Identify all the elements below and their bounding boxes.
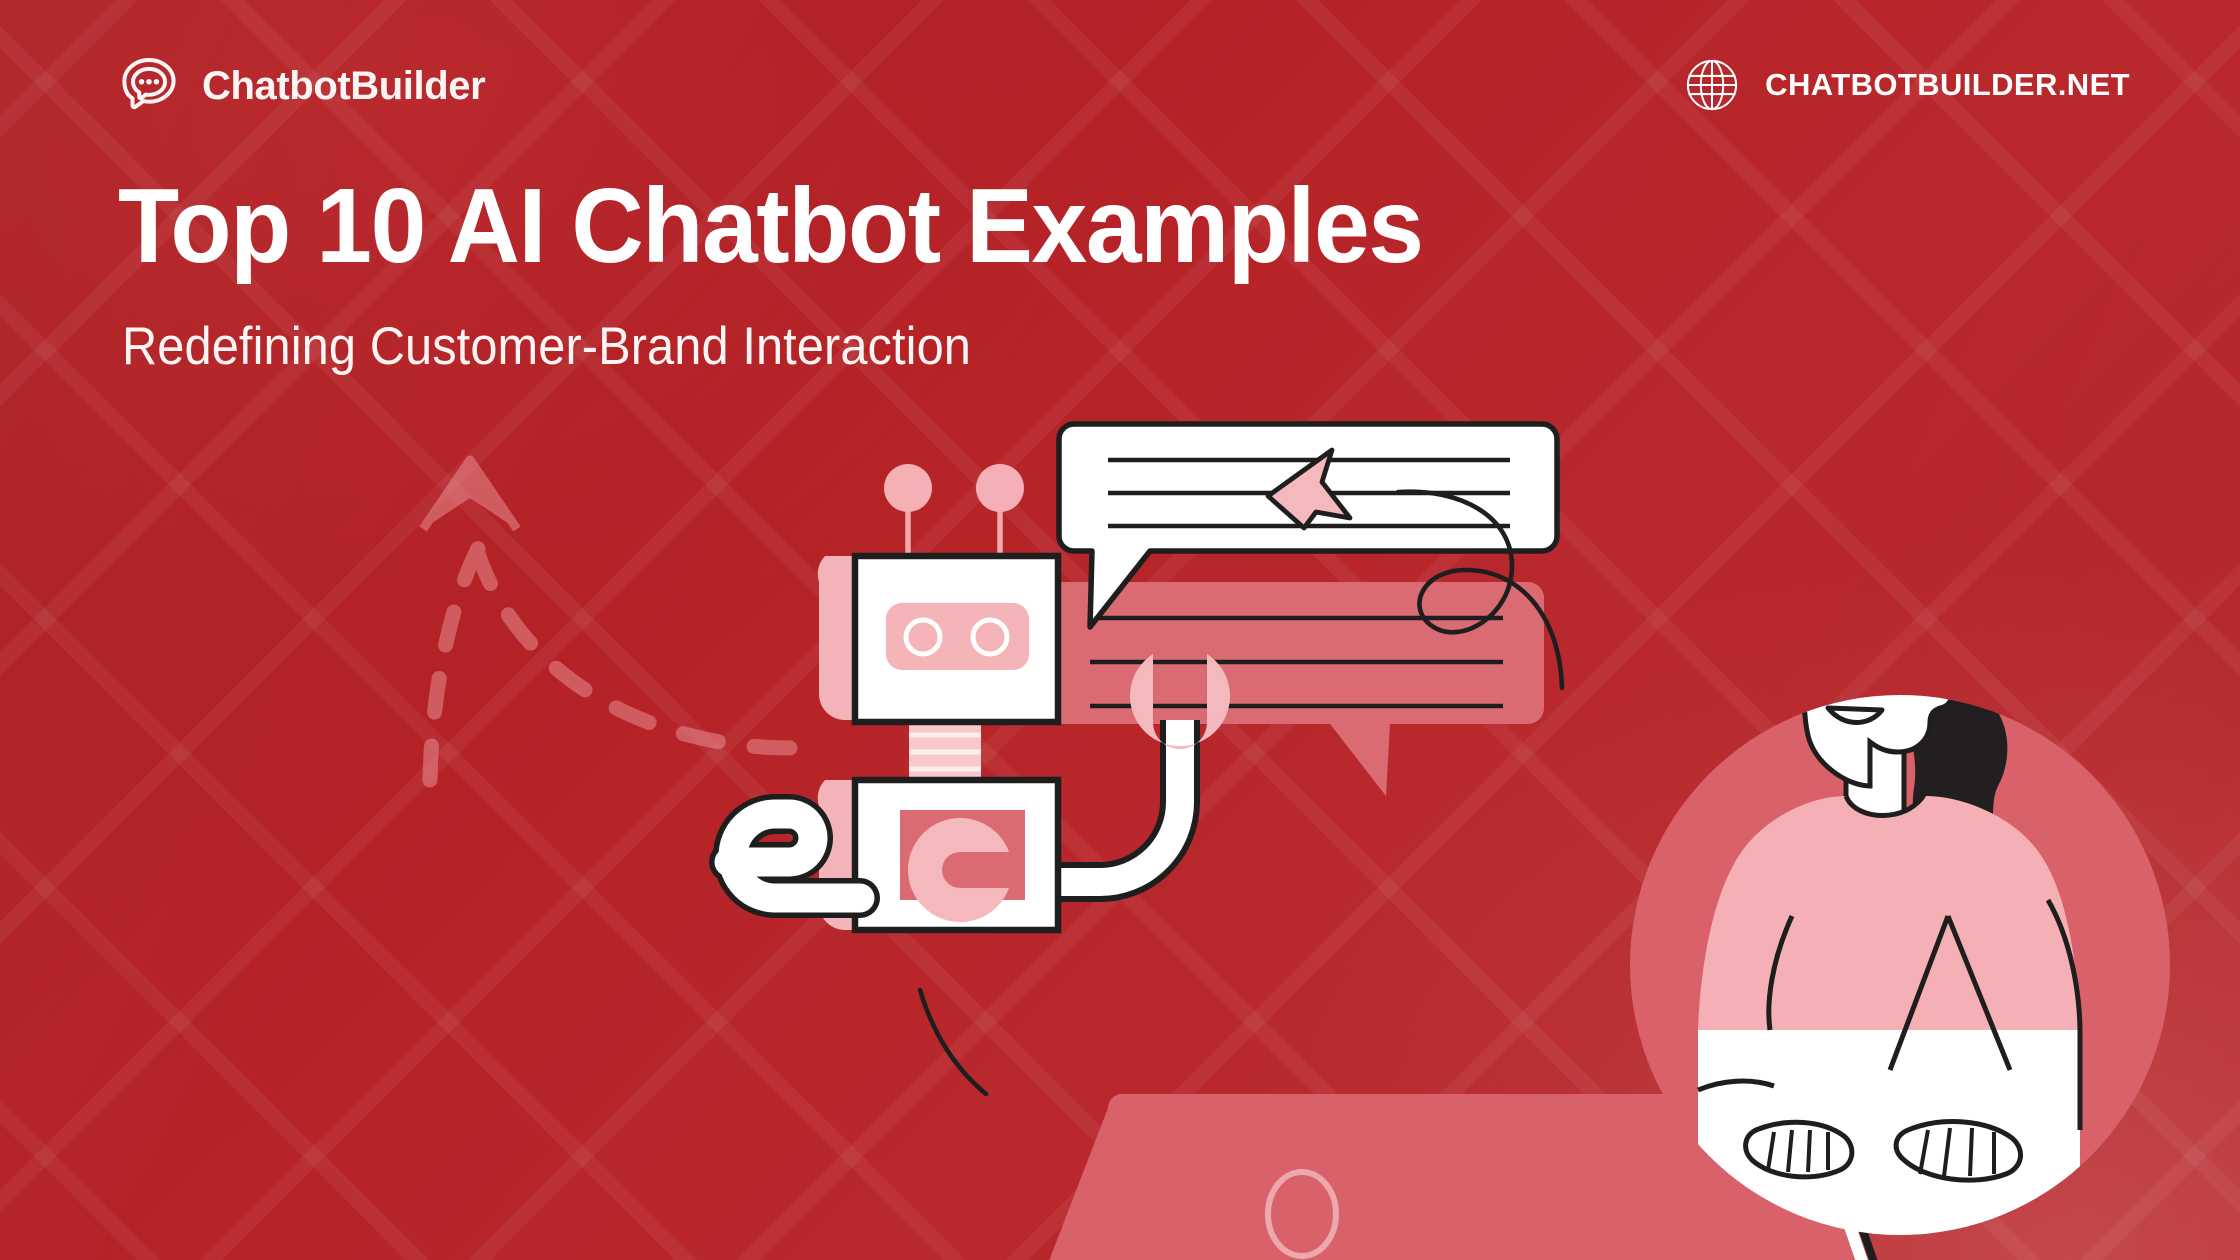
page-title: Top 10 AI Chatbot Examples bbox=[118, 171, 1423, 281]
site-url-text: CHATBOTBUILDER.NET bbox=[1765, 67, 2130, 103]
chatbot-conversation-illustration bbox=[560, 430, 2240, 1260]
person-icon bbox=[1698, 580, 2080, 1236]
brand-name: ChatbotBuilder bbox=[202, 64, 485, 109]
chat-bubble-dots-icon bbox=[118, 55, 180, 117]
robot-icon bbox=[729, 464, 1230, 1094]
neck bbox=[909, 719, 981, 781]
antenna-right bbox=[976, 464, 1024, 560]
social-banner: ChatbotBuilder CHATBOTBUILDER.NET Top 10… bbox=[0, 0, 2240, 1260]
brand-lockup[interactable]: ChatbotBuilder bbox=[118, 55, 485, 117]
site-url-lockup[interactable]: CHATBOTBUILDER.NET bbox=[1685, 58, 2130, 112]
page-subtitle: Redefining Customer-Brand Interaction bbox=[122, 316, 971, 377]
arm-right bbox=[1057, 720, 1180, 882]
antenna-left bbox=[884, 464, 932, 560]
globe-icon bbox=[1685, 58, 1739, 112]
chat-bubble-incoming bbox=[1044, 582, 1544, 796]
